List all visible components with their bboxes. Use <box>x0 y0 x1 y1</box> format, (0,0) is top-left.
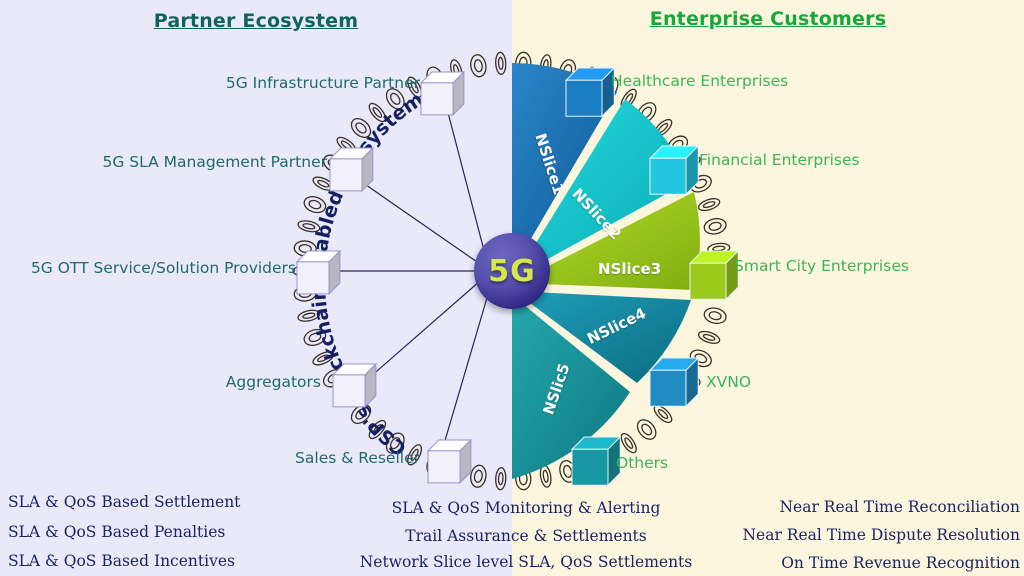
label-customer-smart-city[interactable]: Smart City Enterprises <box>734 257 909 275</box>
label-partner-5g-ott-providers[interactable]: 5G OTT Service/Solution Providers <box>0 259 296 277</box>
label-partner-5g-infrastructure[interactable]: 5G Infrastructure Partner <box>20 74 420 92</box>
footer-right-line-1: Near Real Time Reconciliation <box>712 498 1020 516</box>
footer-right-line-2: Near Real Time Dispute Resolution <box>712 526 1020 544</box>
footer-middle-line-1: SLA & QoS Monitoring & Alerting <box>340 499 712 517</box>
diagram-canvas: Partner Ecosystem Enterprise Customers <box>0 0 1024 576</box>
footer-right-line-3: On Time Revenue Recognition <box>712 554 1020 572</box>
footer-left-line-3: SLA & QoS Based Incentives <box>8 552 338 570</box>
label-slice-nslice3: NSlice3 <box>598 260 661 278</box>
cube-customer-financial[interactable] <box>650 146 698 194</box>
label-partner-sales-reseller[interactable]: Sales & Reseller <box>20 449 420 467</box>
label-customer-others[interactable]: Others <box>616 454 668 472</box>
cube-partner-5g-ott-providers[interactable] <box>297 251 340 294</box>
cube-partner-5g-sla-management[interactable] <box>330 148 373 191</box>
footer-middle-line-3: Network Slice level SLA, QoS Settlements <box>340 553 712 571</box>
footer-middle-line-2: Trail Assurance & Settlements <box>340 527 712 545</box>
cube-customer-others[interactable] <box>572 437 620 485</box>
footer-left-line-1: SLA & QoS Based Settlement <box>8 493 338 511</box>
hub-label-5g: 5G <box>474 233 550 309</box>
label-customer-healthcare[interactable]: Healthcare Enterprises <box>611 72 788 90</box>
cube-partner-aggregators[interactable] <box>333 364 376 407</box>
cube-partner-sales-reseller[interactable] <box>428 440 471 483</box>
label-customer-xvno[interactable]: XVNO <box>706 373 751 391</box>
cube-customer-smart-city[interactable] <box>690 251 738 299</box>
label-partner-aggregators[interactable]: Aggregators <box>20 373 321 391</box>
cube-partner-5g-infrastructure[interactable] <box>421 72 464 115</box>
cube-customer-healthcare[interactable] <box>566 68 614 116</box>
label-customer-financial[interactable]: Financial Enterprises <box>699 151 860 169</box>
cube-customer-xvno[interactable] <box>650 358 698 406</box>
label-partner-5g-sla-management[interactable]: 5G SLA Management Partner <box>20 153 327 171</box>
footer-left-line-2: SLA & QoS Based Penalties <box>8 523 338 541</box>
